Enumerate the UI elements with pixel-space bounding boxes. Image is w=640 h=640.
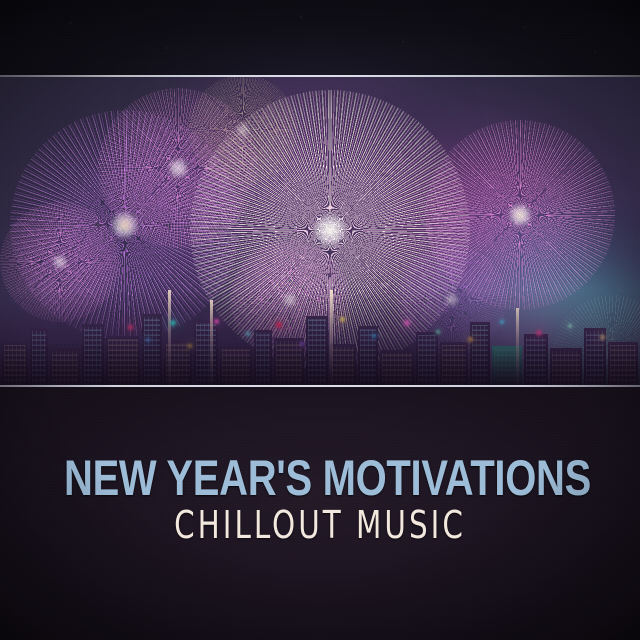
album-title: NEW YEAR'S MOTIVATIONS	[64, 455, 576, 501]
cover-photo-fireworks	[0, 77, 640, 386]
skyline-glow	[0, 290, 640, 386]
album-subtitle: CHILLOUT MUSIC	[45, 507, 595, 543]
album-cover: NEW YEAR'S MOTIVATIONS CHILLOUT MUSIC	[0, 0, 640, 640]
firework-core	[53, 255, 66, 268]
divider-rule-bottom	[0, 385, 640, 387]
cover-text-block: NEW YEAR'S MOTIVATIONS CHILLOUT MUSIC	[0, 455, 640, 543]
top-dark-band	[0, 0, 640, 77]
city-skyline	[0, 290, 640, 386]
divider-rule-top	[0, 75, 640, 77]
